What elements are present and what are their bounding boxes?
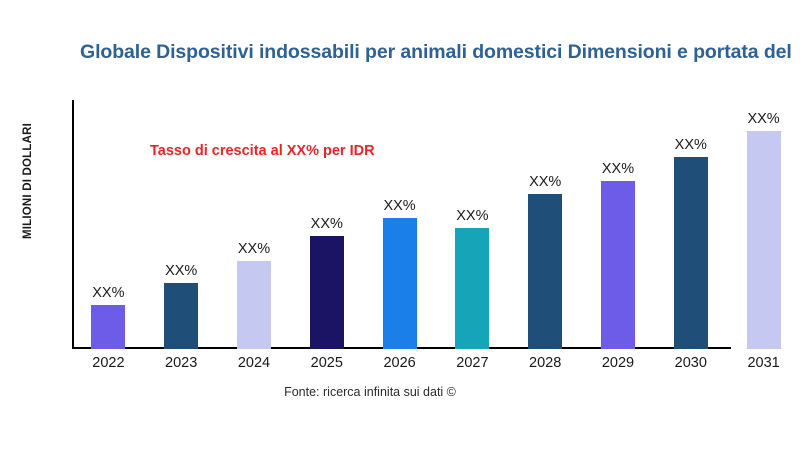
bar-value-label: XX% (311, 216, 343, 232)
bar-2031[interactable] (747, 131, 781, 349)
y-axis-label: MILIONI DI DOLLARI (22, 91, 34, 271)
bar-group: XX% (582, 100, 655, 349)
bar-group: XX% (727, 100, 800, 349)
bar-value-label: XX% (747, 111, 779, 127)
bar-2027[interactable] (455, 228, 489, 349)
bar-2028[interactable] (528, 194, 562, 349)
bar-2026[interactable] (383, 218, 417, 349)
bar-2024[interactable] (237, 261, 271, 349)
bar-2023[interactable] (164, 283, 198, 349)
page-title: Globale Dispositivi indossabili per anim… (80, 38, 800, 66)
bar-group: XX% (218, 100, 291, 349)
bar-2030[interactable] (674, 157, 708, 349)
bar-2029[interactable] (601, 181, 635, 349)
x-tick-2023: 2023 (165, 355, 197, 371)
bar-group: XX% (72, 100, 145, 349)
x-tick-2026: 2026 (383, 355, 415, 371)
x-tick-2028: 2028 (529, 355, 561, 371)
bar-group: XX% (290, 100, 363, 349)
bar-group: XX% (145, 100, 218, 349)
x-tick-2022: 2022 (92, 355, 124, 371)
x-tick-2027: 2027 (456, 355, 488, 371)
bar-value-label: XX% (92, 285, 124, 301)
source-footnote: Fonte: ricerca infinita sui dati © (0, 385, 740, 399)
bar-value-label: XX% (238, 241, 270, 257)
bar-value-label: XX% (383, 198, 415, 214)
bar-value-label: XX% (602, 161, 634, 177)
plot-area: XX%XX%XX%XX%XX%XX%XX%XX%XX%XX% (72, 100, 800, 349)
bar-2025[interactable] (310, 236, 344, 349)
bar-group: XX% (509, 100, 582, 349)
growth-rate-annotation: Tasso di crescita al XX% per IDR (150, 143, 375, 159)
bar-chart: Globale Dispositivi indossabili per anim… (0, 0, 800, 450)
x-tick-2029: 2029 (602, 355, 634, 371)
bar-group: XX% (363, 100, 436, 349)
x-tick-2024: 2024 (238, 355, 270, 371)
bar-value-label: XX% (456, 208, 488, 224)
bar-value-label: XX% (165, 263, 197, 279)
bar-2022[interactable] (91, 305, 125, 349)
x-tick-2031: 2031 (747, 355, 779, 371)
bar-value-label: XX% (529, 174, 561, 190)
bar-group: XX% (654, 100, 727, 349)
x-tick-2025: 2025 (311, 355, 343, 371)
bar-group: XX% (436, 100, 509, 349)
x-tick-2030: 2030 (675, 355, 707, 371)
bar-value-label: XX% (675, 137, 707, 153)
